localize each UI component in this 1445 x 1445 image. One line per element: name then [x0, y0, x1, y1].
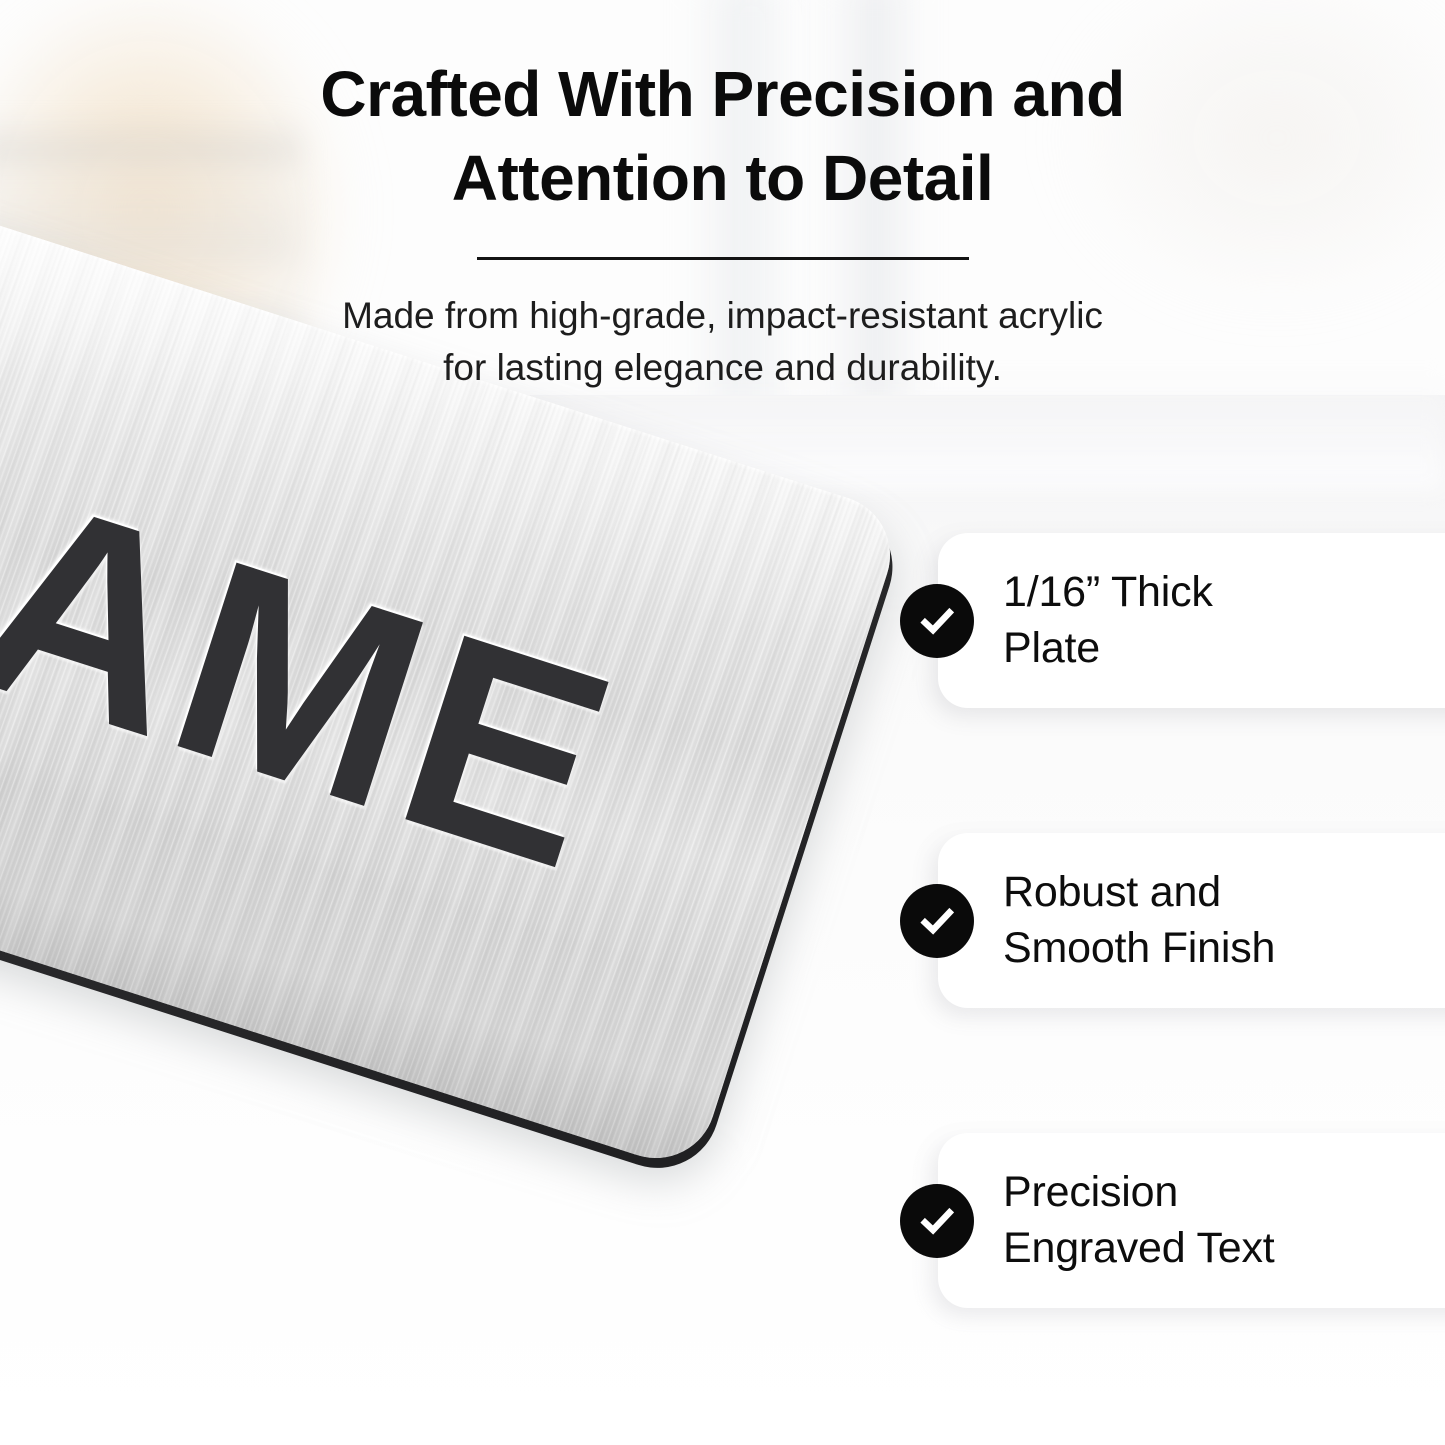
check-circle-icon [900, 884, 974, 958]
check-circle-icon [900, 584, 974, 658]
feature-label-line-2: Smooth Finish [1003, 924, 1275, 972]
feature-card[interactable]: Robust and Smooth Finish [938, 833, 1445, 1008]
feature-label-line-2: Engraved Text [1003, 1224, 1275, 1272]
feature-label-line-2: Plate [1003, 624, 1100, 672]
feature-card-label: Precision Engraved Text [1003, 1165, 1275, 1277]
feature-label-line-1: Robust and [1003, 868, 1221, 916]
subline-line-2: for lasting elegance and durability. [443, 347, 1002, 388]
feature-label-line-1: 1/16” Thick [1003, 568, 1213, 616]
feature-card-label: Robust and Smooth Finish [1003, 865, 1275, 977]
feature-card[interactable]: 1/16” Thick Plate [938, 533, 1445, 708]
title-divider [477, 257, 969, 260]
page-title: Crafted With Precision and Attention to … [243, 52, 1203, 221]
headline-line-2: Attention to Detail [452, 142, 994, 214]
feature-card-label: 1/16” Thick Plate [1003, 565, 1213, 677]
product-feature-image: Crafted With Precision and Attention to … [0, 0, 1445, 1445]
feature-card[interactable]: Precision Engraved Text [938, 1133, 1445, 1308]
feature-label-line-1: Precision [1003, 1168, 1178, 1216]
headline-line-1: Crafted With Precision and [320, 58, 1124, 130]
header-block: Crafted With Precision and Attention to … [0, 52, 1445, 395]
check-circle-icon [900, 1184, 974, 1258]
subline-line-1: Made from high-grade, impact-resistant a… [342, 295, 1103, 336]
feature-card-list: 1/16” Thick Plate Robust and Smooth Fini… [938, 533, 1445, 1308]
page-subtitle: Made from high-grade, impact-resistant a… [313, 290, 1133, 395]
